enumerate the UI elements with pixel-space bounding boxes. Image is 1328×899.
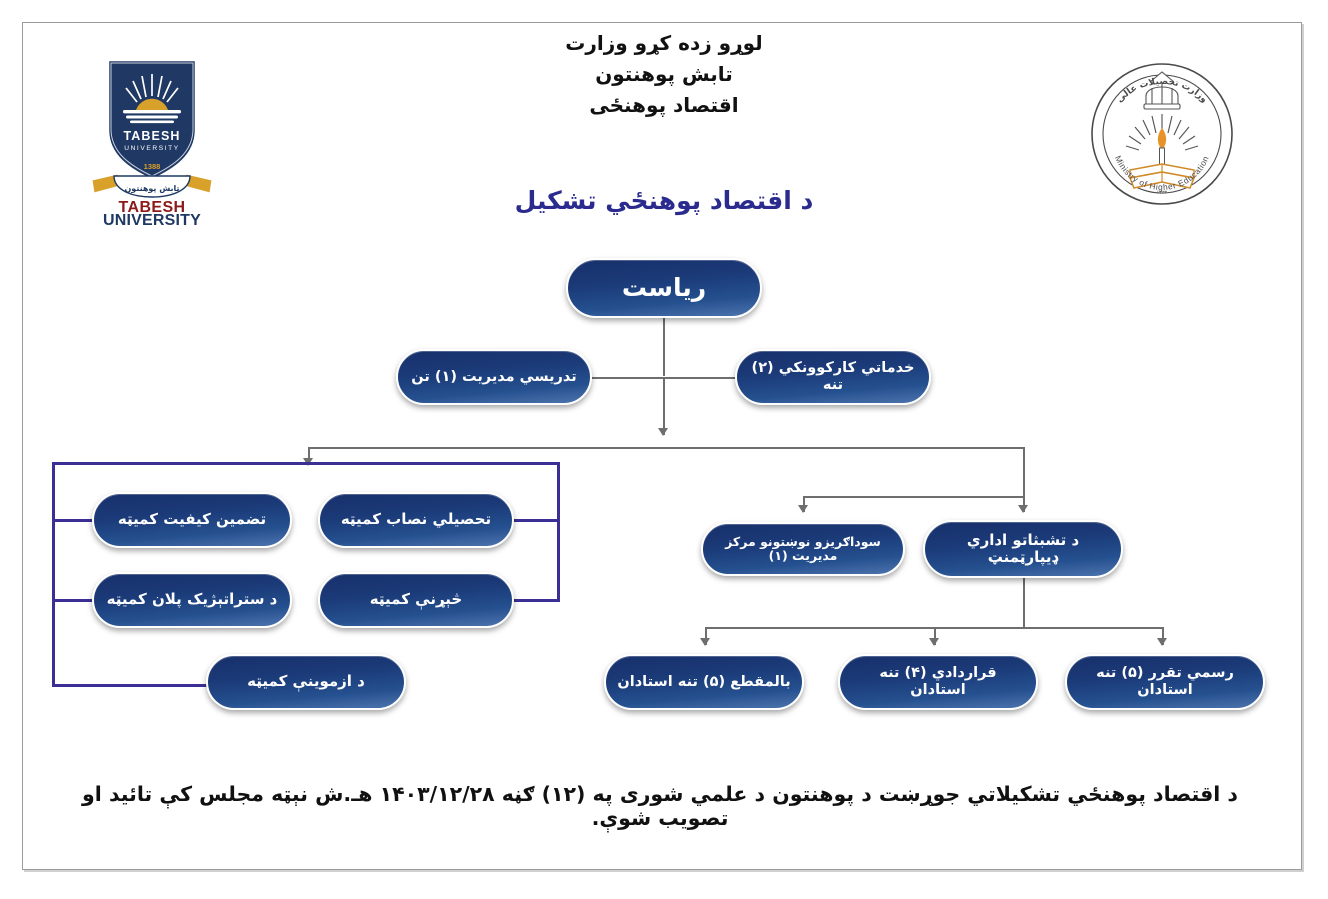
node-teachers-formal-appointment[interactable]: رسمي تقرر (۵) تنه استادان xyxy=(1065,654,1265,710)
ministry-of-higher-education-seal: ۱۳۳۲ وزارت تحصیلات عالی Ministry of High… xyxy=(1086,58,1238,210)
node-teachers-partial[interactable]: بالمقطع (۵) تنه استادان xyxy=(604,654,804,710)
header-text: لوړو زده کړو وزارت تابش پوهنتون اقتصاد پ… xyxy=(414,28,914,121)
connector-arrow-bus xyxy=(658,428,668,436)
svg-text:TABESH: TABESH xyxy=(123,129,180,143)
committee-bracket-top xyxy=(52,462,560,465)
header-line-3: اقتصاد پوهنځی xyxy=(414,90,914,121)
connector-root-vertical xyxy=(663,318,665,376)
connector-dept-down xyxy=(1023,578,1025,628)
svg-text:تابش پوهنتون: تابش پوهنتون xyxy=(124,184,179,194)
node-teachers-contract[interactable]: قراردادي (۴) تنه استادان xyxy=(838,654,1038,710)
node-root[interactable]: ریاست xyxy=(566,258,762,318)
svg-text:1388: 1388 xyxy=(144,162,161,171)
node-committee-strategic-plan[interactable]: د ستراتېژیک پلان کمیټه xyxy=(92,572,292,628)
connector-root-to-bus xyxy=(663,377,665,435)
node-committee-curriculum[interactable]: تحصیلي نصاب کمیټه xyxy=(318,492,514,548)
header-line-1: لوړو زده کړو وزارت xyxy=(414,28,914,59)
node-enterprise-admin-department[interactable]: د تشبثاتو اداري ډیپارټمنټ xyxy=(923,520,1123,578)
node-committee-research[interactable]: څېړنې کمیټه xyxy=(318,572,514,628)
connector-arrow-enterprise-dept xyxy=(1018,505,1028,513)
org-chart-page: TABESH UNIVERSITY 1388 تابش پوهنتون TABE… xyxy=(0,0,1328,899)
header-line-2: تابش پوهنتون xyxy=(414,59,914,90)
connector-arrow-trade-center xyxy=(798,505,808,513)
svg-text:UNIVERSITY: UNIVERSITY xyxy=(103,212,201,227)
approval-note: د اقتصاد پوهنځي تشکیلاتي جوړښت د پوهنتون… xyxy=(60,782,1260,830)
connector-main-bus xyxy=(308,447,1024,449)
node-trade-innovation-center[interactable]: سوداګریزو نوښتونو مرکز مدیریت (۱) xyxy=(701,522,905,576)
node-committee-examination[interactable]: د ازموینې کمیټه xyxy=(206,654,406,710)
node-committee-quality-assurance[interactable]: تضمین کیفیت کمیټه xyxy=(92,492,292,548)
connector-to-right-branch xyxy=(1023,447,1025,497)
node-teaching-management[interactable]: تدریسي مدیریت (۱) تن xyxy=(396,349,592,405)
node-service-staff[interactable]: خدماتي کارکوونکي (۲) تنه xyxy=(735,349,931,405)
connector-arrow-contract xyxy=(929,638,939,646)
connector-arrow-partial xyxy=(700,638,710,646)
page-title: د اقتصاد پوهنځي تشکیل xyxy=(414,186,914,215)
committee-bracket-right xyxy=(557,462,560,602)
committee-bracket-left xyxy=(52,462,55,687)
connector-arrow-formal xyxy=(1157,638,1167,646)
connector-right-branch-bus xyxy=(803,496,1024,498)
tabesh-university-logo: TABESH UNIVERSITY 1388 تابش پوهنتون TABE… xyxy=(78,52,238,227)
svg-text:UNIVERSITY: UNIVERSITY xyxy=(124,145,180,152)
